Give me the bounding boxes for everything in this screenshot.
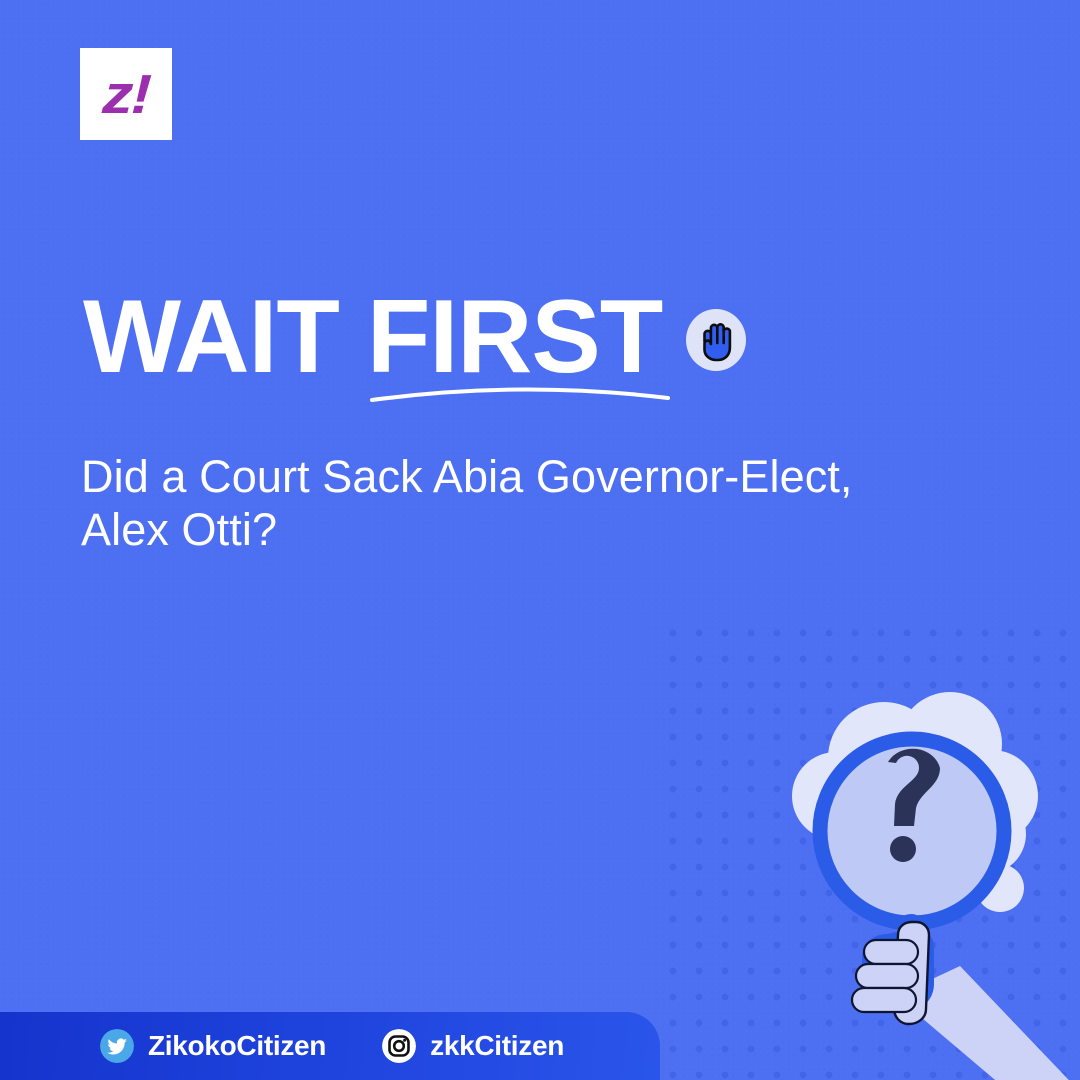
footer-social-bar: ZikokoCitizen zkkCitizen xyxy=(0,1012,660,1080)
instagram-icon[interactable] xyxy=(382,1029,416,1063)
page-title: WAIT FIRST xyxy=(83,285,662,389)
raised-hand-emoji xyxy=(684,308,748,372)
social-card: z! WAIT FIRST Did a Court Sack Abia Gove… xyxy=(0,0,1080,1080)
instagram-handle[interactable]: zkkCitizen xyxy=(430,1030,564,1062)
subtitle: Did a Court Sack Abia Governor-Elect, Al… xyxy=(81,450,911,556)
headline-underline-arc xyxy=(370,378,670,408)
zikoko-logo-text: z! xyxy=(101,67,150,122)
hand xyxy=(852,922,934,1024)
social-twitter[interactable]: ZikokoCitizen xyxy=(100,1029,326,1063)
twitter-icon[interactable] xyxy=(100,1029,134,1063)
social-instagram[interactable]: zkkCitizen xyxy=(382,1029,564,1063)
twitter-handle[interactable]: ZikokoCitizen xyxy=(148,1030,326,1062)
headline-row: WAIT FIRST xyxy=(83,285,748,389)
magnifying-glass-illustration xyxy=(764,666,1080,1080)
zikoko-logo: z! xyxy=(80,48,172,140)
